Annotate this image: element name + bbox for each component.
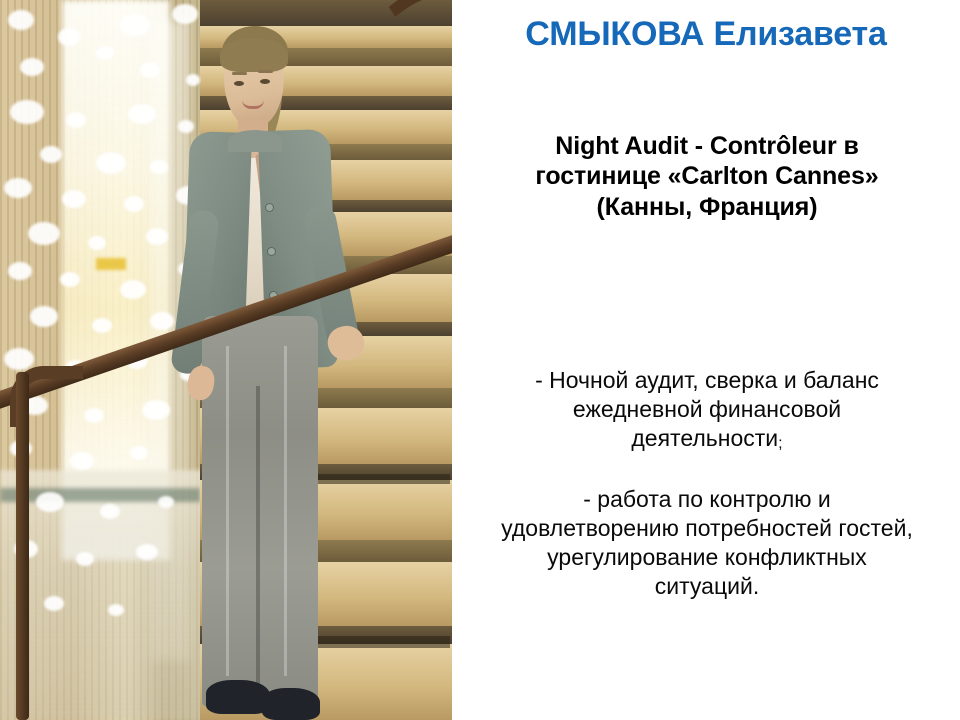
bokeh-light: [172, 4, 198, 24]
bokeh-light: [40, 146, 62, 163]
bullet-1-terminator: ;: [778, 435, 782, 452]
slide-subtitle: Night Audit - Contrôleur в гостинице «Ca…: [470, 131, 944, 222]
bullet-1-line-2: ежедневной финансовой: [456, 395, 958, 424]
shoe-left: [206, 680, 270, 714]
bokeh-light: [66, 112, 86, 128]
bokeh-light: [120, 280, 146, 299]
bokeh-light: [60, 272, 80, 287]
jacket-button: [268, 248, 275, 255]
bokeh-light: [96, 152, 126, 174]
bokeh-light: [124, 196, 144, 212]
bullet-list: - Ночной аудит, сверка и баланс ежедневн…: [456, 366, 958, 602]
bokeh-light: [36, 492, 64, 512]
hair-front: [220, 38, 288, 72]
trousers: [202, 316, 318, 706]
trouser-inseam: [256, 386, 260, 686]
bullet-1-line-1: - Ночной аудит, сверка и баланс: [456, 366, 958, 395]
trouser-crease-left: [226, 346, 229, 676]
bokeh-light: [70, 452, 94, 470]
presentation-slide: СМЫКОВА Елизавета Night Audit - Contrôle…: [0, 0, 960, 720]
subtitle-line-3: (Канны, Франция): [470, 192, 944, 222]
jacket-button: [266, 204, 273, 211]
subtitle-line-2: гостинице «Carlton Cannes»: [470, 161, 944, 191]
bokeh-light: [108, 604, 124, 616]
bokeh-light: [96, 46, 114, 60]
bokeh-light: [130, 446, 148, 460]
bokeh-light: [10, 100, 44, 124]
eye-left: [234, 81, 244, 86]
bokeh-light: [8, 262, 32, 280]
slide-title: СМЫКОВА Елизавета: [452, 16, 960, 53]
eyebrow-left: [232, 72, 247, 75]
bokeh-light: [28, 222, 60, 245]
portrait-photo: [0, 0, 452, 720]
trouser-crease-right: [284, 346, 287, 676]
bokeh-light: [8, 10, 34, 30]
bullet-item-1: - Ночной аудит, сверка и баланс ежедневн…: [456, 366, 958, 455]
text-panel: СМЫКОВА Елизавета Night Audit - Contrôle…: [452, 0, 960, 720]
bokeh-light: [4, 348, 34, 370]
bullet-2-line-1: - работа по контролю и: [456, 485, 958, 514]
bokeh-light: [84, 408, 104, 423]
bullet-1-line-3: деятельности;: [456, 424, 958, 454]
bokeh-light: [4, 178, 32, 198]
bokeh-light: [30, 306, 58, 327]
bullet-1-line-3-text: деятельности: [631, 425, 778, 451]
jacket-collar: [228, 130, 282, 152]
bokeh-light: [20, 58, 44, 76]
bullet-2-line-4: ситуаций.: [456, 572, 958, 601]
bokeh-light: [62, 190, 86, 208]
bullet-item-2: - работа по контролю и удовлетворению по…: [456, 485, 958, 602]
bullet-2-line-3: урегулирование конфликтных: [456, 543, 958, 572]
amber-lamp-accent: [96, 258, 126, 270]
shoe-right: [262, 688, 320, 720]
bullet-2-line-2: удовлетворению потребностей гостей,: [456, 514, 958, 543]
bokeh-light: [44, 596, 64, 611]
eye-right: [260, 79, 270, 84]
bokeh-light: [58, 28, 80, 46]
bokeh-light: [92, 318, 112, 333]
bokeh-light: [88, 236, 106, 250]
bokeh-light: [100, 504, 120, 519]
bokeh-light: [120, 14, 150, 36]
bokeh-light: [76, 552, 94, 566]
eyebrow-right: [258, 70, 273, 73]
handrail-post: [16, 372, 29, 720]
subtitle-line-1: Night Audit - Contrôleur в: [470, 131, 944, 161]
